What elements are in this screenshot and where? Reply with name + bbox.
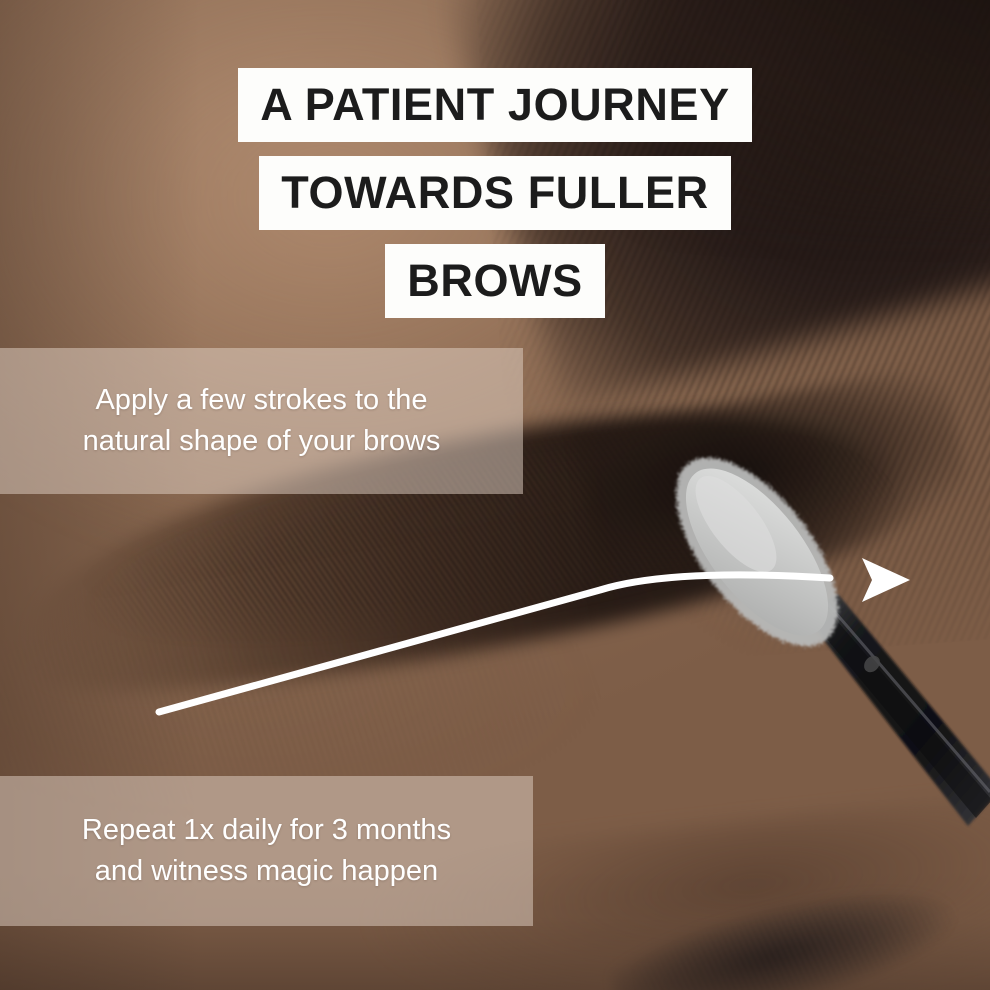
poster: A PATIENT JOURNEY TOWARDS FULLER BROWS A…: [0, 0, 990, 990]
caption-bottom-line-2: and witness magic happen: [18, 851, 515, 892]
caption-panel-top: Apply a few strokes to the natural shape…: [0, 348, 523, 494]
caption-panel-bottom: Repeat 1x daily for 3 months and witness…: [0, 776, 533, 926]
headline-line-2: TOWARDS FULLER: [259, 156, 731, 230]
headline-line-1: A PATIENT JOURNEY: [238, 68, 751, 142]
headline: A PATIENT JOURNEY TOWARDS FULLER BROWS: [0, 68, 990, 318]
headline-line-3: BROWS: [385, 244, 605, 318]
arrowhead-icon: [862, 558, 910, 602]
caption-top-line-1: Apply a few strokes to the: [18, 380, 505, 421]
caption-top-line-2: natural shape of your brows: [18, 421, 505, 462]
caption-bottom-line-1: Repeat 1x daily for 3 months: [18, 810, 515, 851]
